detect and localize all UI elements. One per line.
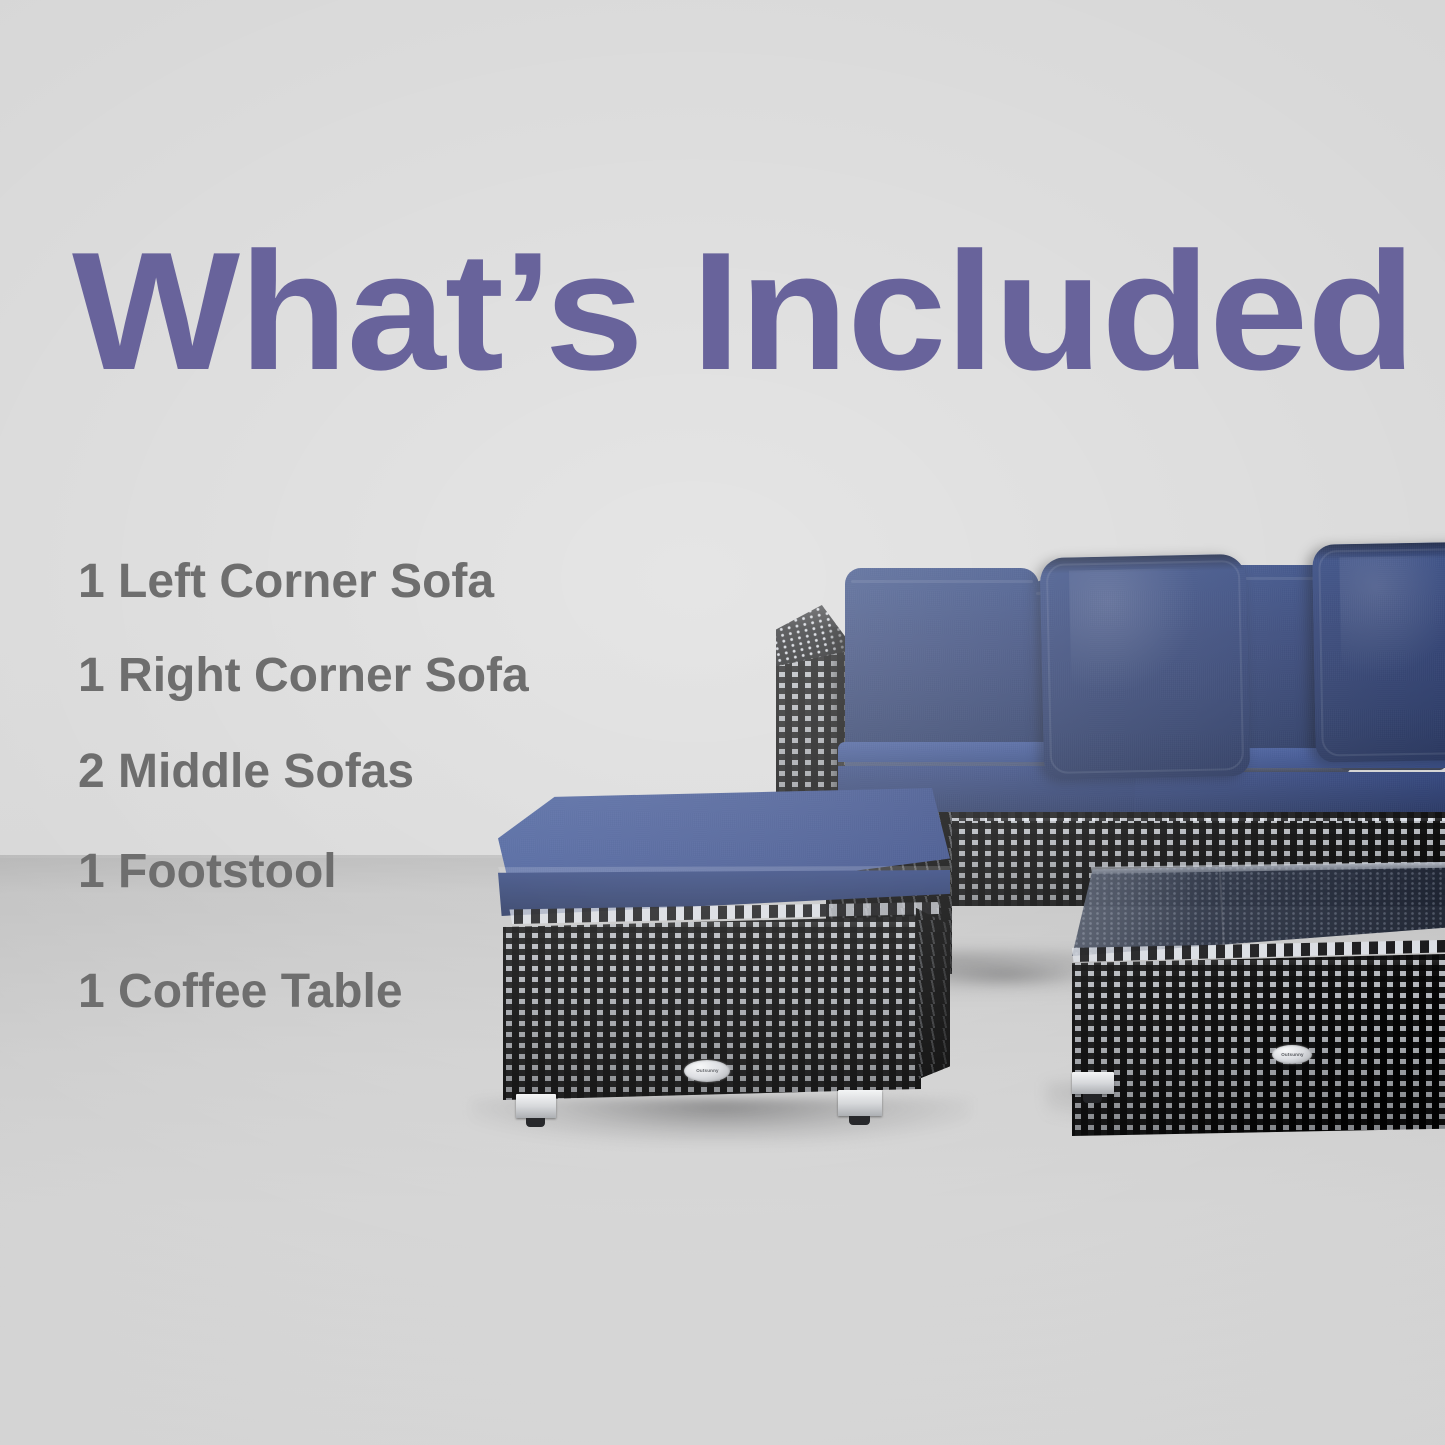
page-title: What’s Included	[72, 231, 1445, 391]
list-item: 1 Right Corner Sofa	[78, 652, 718, 700]
list-item: 1 Coffee Table	[78, 968, 718, 1016]
list-item: 2 Middle Sofas	[78, 748, 718, 796]
list-item: 1 Left Corner Sofa	[78, 558, 718, 606]
list-item: 1 Footstool	[78, 848, 718, 896]
included-items-list: 1 Left Corner Sofa 1 Right Corner Sofa 2…	[78, 548, 718, 1016]
infographic-canvas: Outsunny Outsunny	[0, 0, 1445, 1445]
